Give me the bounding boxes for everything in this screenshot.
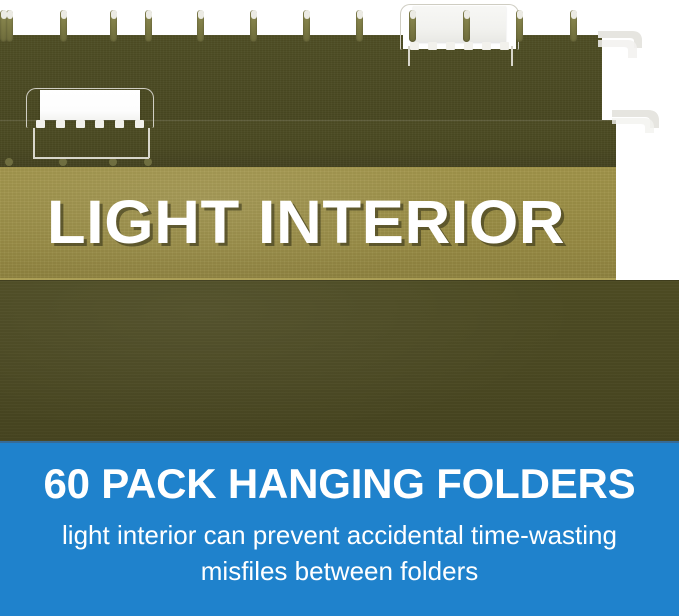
tab-leg	[511, 46, 513, 66]
tab-tooth	[56, 120, 65, 128]
banner-subtitle-line-2: misfiles between folders	[16, 553, 663, 589]
tab-label-card	[413, 6, 506, 42]
banner-subtitle: light interior can prevent accidental ti…	[16, 517, 663, 589]
folder-slot	[463, 10, 470, 42]
tab-tooth	[482, 42, 491, 50]
folder-slot	[145, 10, 152, 42]
folder-slot	[6, 10, 13, 42]
folder-slot	[197, 10, 204, 42]
tab-tooth	[446, 42, 455, 50]
hook-upper-right-icon	[598, 28, 658, 70]
banner-subtitle-line-1: light interior can prevent accidental ti…	[16, 517, 663, 553]
light-interior-headline: LIGHT INTERIOR	[0, 189, 624, 255]
folder-slot	[303, 10, 310, 42]
promo-banner: 60 PACK HANGING FOLDERS light interior c…	[0, 441, 679, 616]
lower-olive-sheen	[0, 280, 679, 441]
product-photo: LIGHT INTERIOR	[0, 0, 679, 441]
folder-slot	[570, 10, 577, 42]
tab-tooth	[428, 42, 437, 50]
tab-teeth	[410, 42, 510, 50]
slot-shadow	[109, 158, 117, 166]
tab-tooth	[410, 42, 419, 50]
folder-slot	[409, 10, 416, 42]
tab-tooth	[464, 42, 473, 50]
folder-slot	[516, 10, 523, 42]
marketing-image: LIGHT INTERIOR 60 PACK HANGING FOLDERS l…	[0, 0, 679, 616]
banner-top-divider	[0, 441, 679, 443]
tab-tooth	[95, 120, 104, 128]
tab-tooth	[36, 120, 45, 128]
tab-leg	[148, 128, 150, 158]
folder-lower-exterior	[0, 280, 679, 441]
folder-slot	[250, 10, 257, 42]
slot-shadow	[144, 158, 152, 166]
plastic-tab-upper	[400, 4, 519, 50]
folder-slot	[60, 10, 67, 42]
tab-tooth	[76, 120, 85, 128]
tab-teeth	[36, 120, 144, 128]
slot-shadow	[5, 158, 13, 166]
folder-slot	[110, 10, 117, 42]
tab-leg	[33, 128, 35, 158]
tab-leg	[408, 46, 410, 66]
tab-tooth	[115, 120, 124, 128]
tab-leg-bar	[33, 157, 149, 159]
plastic-tab-lower-left	[26, 88, 154, 128]
folder-slot	[356, 10, 363, 42]
tab-label-card	[40, 90, 140, 120]
hook-lower-right-icon	[612, 108, 674, 144]
banner-headline: 60 PACK HANGING FOLDERS	[0, 460, 679, 508]
slot-shadow	[59, 158, 67, 166]
tab-tooth	[135, 120, 144, 128]
tab-tooth	[500, 42, 509, 50]
